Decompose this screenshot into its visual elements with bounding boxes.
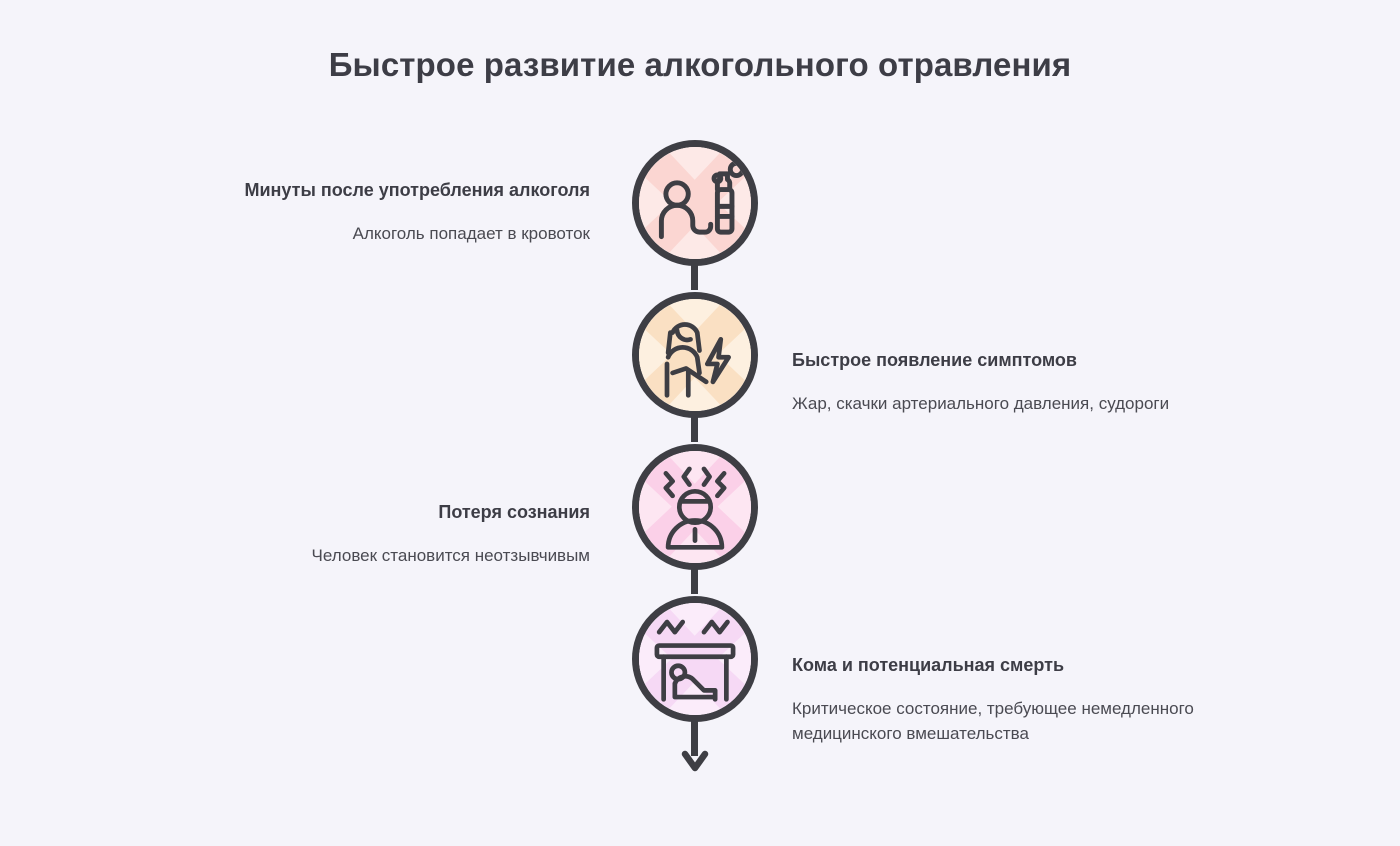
page-title: Быстрое развитие алкогольного отравления [0, 46, 1400, 84]
step-3-description: Человек становится неотзывчивым [150, 543, 590, 569]
step-text-4: Кома и потенциальная смерть Критическое … [792, 653, 1222, 747]
step-text-1: Минуты после употребления алкоголя Алког… [150, 178, 590, 246]
step-1-description: Алкоголь попадает в кровоток [150, 221, 590, 247]
step-3-title: Потеря сознания [150, 500, 590, 526]
timeline-node-3[interactable] [632, 444, 758, 570]
timeline-spine [632, 130, 758, 790]
down-arrow-icon [681, 748, 709, 776]
timeline-node-2[interactable] [632, 292, 758, 418]
step-2-description: Жар, скачки артериального давления, судо… [792, 391, 1242, 417]
step-2-title: Быстрое появление симптомов [792, 348, 1242, 374]
step-text-3: Потеря сознания Человек становится неотз… [150, 500, 590, 568]
timeline-node-4[interactable] [632, 596, 758, 722]
step-1-title: Минуты после употребления алкоголя [150, 178, 590, 204]
timeline-node-1[interactable] [632, 140, 758, 266]
dizzy-person-icon [639, 451, 751, 563]
step-text-2: Быстрое появление симптомов Жар, скачки … [792, 348, 1242, 416]
step-4-title: Кома и потенциальная смерть [792, 653, 1222, 679]
person-with-bottle-icon [639, 147, 751, 259]
step-4-description: Критическое состояние, требующее немедле… [792, 696, 1222, 748]
person-lying-in-bed-icon [639, 603, 751, 715]
person-with-lightning-icon [639, 299, 751, 411]
